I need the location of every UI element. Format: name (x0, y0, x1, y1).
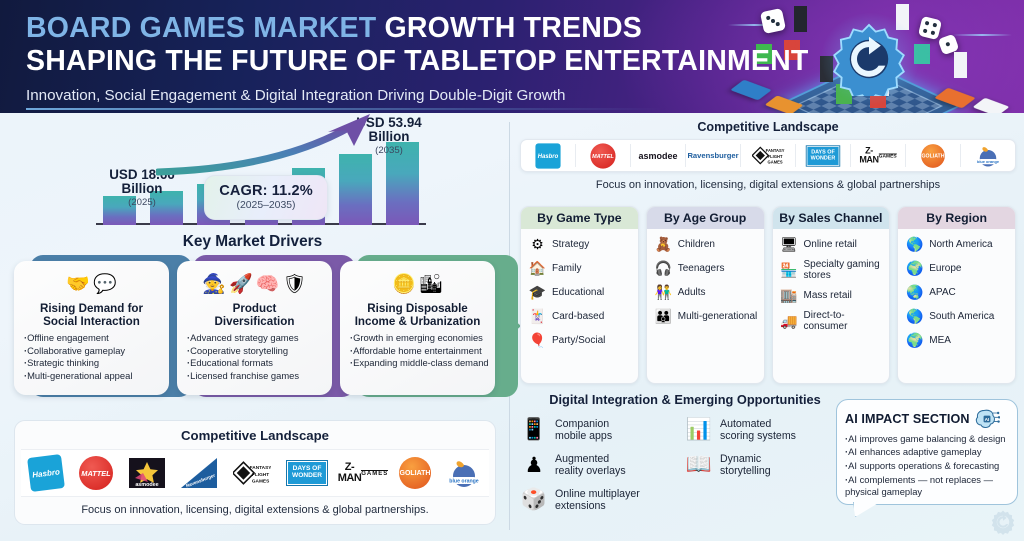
driver-card-bullets: Growth in emerging economiesAffordable h… (345, 332, 490, 370)
map-north-america-icon: 🌎 (905, 235, 924, 254)
brand-logo-goliath: GOLIATH (921, 144, 945, 168)
brand-logo-ravensburger: Ravensburger (181, 458, 217, 488)
driver-card-1: 🤝💬Rising Demand forSocial InteractionOff… (14, 255, 184, 403)
segment-column-3: By Sales Channel🖥Online retail🏪Specialty… (772, 206, 891, 384)
brand-logo-asmodee: asmodee (638, 151, 677, 161)
segment-item-label: Online retail (804, 239, 857, 250)
shield-icon: 🛡 (282, 272, 306, 296)
brand-cell-zman: Z-MANGAMES (851, 144, 906, 167)
digital-item[interactable]: ♟Augmentedreality overlays (520, 451, 685, 479)
svg-text:FANTASY: FANTASY (765, 148, 784, 153)
cl-right-footer: Focus on innovation, licensing, digital … (520, 179, 1016, 191)
segment-item-label: Educational (552, 287, 604, 298)
driver-card-title: Rising Demand forSocial Interaction (19, 302, 164, 328)
brand-logo-asmodee: asmodee (129, 458, 165, 488)
monitor-cart-icon: 🖥 (780, 235, 799, 254)
segment-item-label: Party/Social (552, 335, 605, 346)
brand-cell-blue-orange: blue orange (961, 144, 1015, 167)
brand-logo-days-of-wonder: DAYS OFWONDER (807, 146, 840, 166)
driver-card-3: 🪙🏙Rising DisposableIncome & Urbanization… (340, 255, 510, 403)
segment-item-label: Specialty gaming stores (804, 259, 885, 281)
segment-items: 🧸Children🎧Teenagers👫Adults👪Multi-generat… (647, 229, 764, 335)
ai-impact-bullet: AI complements — not replaces — physical… (845, 474, 1009, 498)
digital-item-label: Companionmobile apps (555, 418, 612, 443)
brand-cell-days-of-wonder: DAYS OFWONDER (796, 144, 851, 167)
segment-item-label: MEA (929, 335, 951, 346)
header-underline (26, 108, 666, 110)
ai-impact-section: AI IMPACT SECTION AI AI improves game ba… (836, 399, 1018, 505)
title-rest: GROWTH TRENDS (384, 12, 642, 44)
brand-logo-mattel: MATTEL (590, 143, 615, 168)
segment-item[interactable]: 🃏Card-based (528, 307, 633, 326)
chess-knight-icon (954, 52, 967, 78)
cl-left-logo-strip: Hasbro MATTEL asmodee Ravensburger FANTA… (21, 449, 489, 497)
brand-logo-blue-orange-games: blue orange (447, 457, 481, 489)
cl-right-logo-strip: Hasbro MATTEL asmodee Ravensburger FANTA… (520, 139, 1016, 172)
ai-impact-title: AI IMPACT SECTION (845, 412, 970, 426)
svg-text:FLIGHT: FLIGHT (767, 154, 782, 159)
driver-bullet: Affordable home entertainment (350, 345, 490, 358)
map-south-america-icon: 🌎 (905, 307, 924, 326)
cl-left-footer: Focus on innovation, licensing, digital … (15, 497, 495, 516)
graduation-book-icon: 🎓 (528, 283, 547, 302)
segment-column-4: By Region🌎North America🌍Europe🌏APAC🌎Sout… (897, 206, 1016, 384)
brand-logo-zman-games: Z-MANGAMES (862, 145, 895, 166)
driver-card-body: 🧙🚀🧠🛡ProductDiversificationAdvanced strat… (177, 261, 332, 395)
cl-left-title: Competitive Landscape (15, 421, 495, 443)
title-highlight: BOARD GAMES MARKET (26, 12, 376, 44)
gear-logo-icon (832, 22, 906, 96)
segment-column-1: By Game Type⚙Strategy🏠Family🎓Educational… (520, 206, 639, 384)
segment-header: By Age Group (647, 207, 764, 229)
svg-text:GAMES: GAMES (252, 479, 269, 485)
house-icon: 🏠 (528, 259, 547, 278)
segment-header: By Region (898, 207, 1015, 229)
driver-bullet: Educational formats (187, 357, 327, 370)
smartphone-game-icon: 📱 (520, 416, 548, 444)
segment-item[interactable]: 🏪Specialty gaming stores (780, 259, 885, 281)
balloons-icon: 🎈 (528, 331, 547, 350)
ai-brain-chip-icon: AI (974, 407, 1000, 431)
brand-logo-fantasy-flight-games: FANTASY FLIGHT GAMES (752, 144, 785, 167)
segment-item[interactable]: 🌍MEA (905, 331, 1010, 350)
segment-item[interactable]: 🎈Party/Social (528, 331, 633, 350)
ai-impact-bullets: AI improves game balancing & designAI en… (845, 433, 1009, 499)
gears-icon: ⚙ (528, 235, 547, 254)
digital-item-label: Augmentedreality overlays (555, 453, 626, 478)
svg-text:blue orange: blue orange (977, 159, 1000, 164)
digital-item[interactable]: 📖Dynamicstorytelling (685, 451, 850, 479)
segment-items: 🌎North America🌍Europe🌏APAC🌎South America… (898, 229, 1015, 359)
ai-impact-bullet: AI supports operations & forecasting (845, 460, 1009, 472)
driver-bullet: Growth in emerging economies (350, 332, 490, 345)
svg-text:GAMES: GAMES (767, 160, 782, 165)
segment-column-2: By Age Group🧸Children🎧Teenagers👫Adults👪M… (646, 206, 765, 384)
segment-item[interactable]: 🌍Europe (905, 259, 1010, 278)
competitive-landscape-right: Competitive Landscape Hasbro MATTEL asmo… (520, 120, 1016, 198)
svg-text:AI: AI (984, 417, 989, 423)
robot-hand-book-icon: 📖 (685, 451, 713, 479)
driver-card-2: 🧙🚀🧠🛡ProductDiversificationAdvanced strat… (177, 255, 347, 403)
key-market-drivers-title: Key Market Drivers (0, 233, 505, 251)
cagr-period: (2025–2035) (209, 200, 323, 211)
digital-item-label: Automatedscoring systems (720, 418, 796, 443)
segment-item-label: Strategy (552, 239, 589, 250)
map-europe-icon: 🌍 (905, 259, 924, 278)
department-store-icon: 🏬 (780, 286, 799, 305)
driver-bullet: Offline engagement (24, 332, 164, 345)
driver-card-icons: 🪙🏙 (345, 267, 490, 301)
brain-icon: 🧠 (256, 272, 280, 296)
segment-item-label: Adults (678, 287, 706, 298)
segment-item-label: Teenagers (678, 263, 725, 274)
brand-logo-goliath: GOLIATH (399, 457, 431, 489)
segment-item[interactable]: 🏬Mass retail (780, 286, 885, 305)
page-header: BOARD GAMES MARKET GROWTH TRENDS SHAPING… (0, 0, 1024, 113)
chat-bubbles-icon: 💬 (93, 272, 117, 296)
segment-item[interactable]: 🌎North America (905, 235, 1010, 254)
brand-logo-fantasy-flight-games: FANTASY FLIGHT GAMES (233, 459, 271, 487)
segment-item-label: Mass retail (804, 290, 852, 301)
brand-logo-hasbro: Hasbro (27, 454, 65, 492)
brand-logo-mattel: MATTEL (79, 456, 113, 490)
coins-icon: 🪙 (392, 272, 416, 296)
segment-item[interactable]: 🎧Teenagers (654, 259, 759, 278)
segmentation-columns: By Game Type⚙Strategy🏠Family🎓Educational… (520, 206, 1016, 384)
brand-cell-asmodee: asmodee (631, 144, 686, 167)
segment-item-label: Europe (929, 263, 961, 274)
brand-cell-ravensburger: Ravensburger (686, 144, 741, 167)
brand-cell-mattel: MATTEL (576, 144, 631, 167)
segment-item-label: Children (678, 239, 715, 250)
storefront-icon: 🏪 (780, 261, 799, 280)
digital-item[interactable]: 📱Companionmobile apps (520, 416, 685, 444)
driver-bullet: Advanced strategy games (187, 332, 327, 345)
driver-bullet: Licensed franchise games (187, 370, 327, 383)
driver-card-title: Rising DisposableIncome & Urbanization (345, 302, 490, 328)
brand-logo-blue-orange-games: blue orange (975, 144, 1001, 168)
light-streak (952, 34, 1012, 36)
segment-item[interactable]: 🏠Family (528, 259, 633, 278)
digital-item[interactable]: 🎲Online multiplayerextensions (520, 486, 685, 514)
svg-text:asmodee: asmodee (135, 482, 158, 488)
brand-cell-hasbro: Hasbro (521, 144, 576, 167)
driver-bullet: Multi-generational appeal (24, 370, 164, 383)
brand-logo-zman-games: Z-MAN GAMES (343, 460, 383, 486)
driver-card-icons: 🧙🚀🧠🛡 (182, 267, 327, 301)
city-icon: 🏙 (419, 272, 443, 296)
segment-items: 🖥Online retail🏪Specialty gaming stores🏬M… (773, 229, 890, 341)
digital-title: Digital Integration & Emerging Opportuni… (520, 392, 850, 407)
segment-item-label: APAC (929, 287, 956, 298)
segment-item-label: South America (929, 311, 994, 322)
page-title-line-2: SHAPING THE FUTURE OF TABLETOP ENTERTAIN… (26, 46, 809, 78)
segment-header: By Game Type (521, 207, 638, 229)
board-pawn-icon: 🎲 (520, 486, 548, 514)
segment-items: ⚙Strategy🏠Family🎓Educational🃏Card-based🎈… (521, 229, 638, 359)
tablet-magnifier-icon: 📊 (685, 416, 713, 444)
svg-text:FLIGHT: FLIGHT (252, 472, 269, 478)
digital-right-column: 📊Automatedscoring systems📖Dynamicstoryte… (685, 416, 850, 521)
ai-impact-header: AI IMPACT SECTION AI (845, 407, 1009, 431)
driver-card-bullets: Advanced strategy gamesCooperative story… (182, 332, 327, 382)
brand-logo-hasbro: Hasbro (535, 143, 560, 168)
segment-item-label: Multi-generational (678, 311, 758, 322)
ai-impact-bullet: AI improves game balancing & design (845, 433, 1009, 445)
page-title-line-1: BOARD GAMES MARKET GROWTH TRENDS (26, 13, 809, 45)
segment-header: By Sales Channel (773, 207, 890, 229)
brand-cell-goliath: GOLIATH (906, 144, 961, 167)
driver-card-body: 🪙🏙Rising DisposableIncome & Urbanization… (340, 261, 495, 395)
brand-logo-days-of-wonder: DAYS OFWONDER (287, 461, 327, 485)
teddy-bear-icon: 🧸 (654, 235, 673, 254)
competitive-landscape-left: Competitive Landscape Hasbro MATTEL asmo… (14, 420, 496, 525)
driver-card-bullets: Offline engagementCollaborative gameplay… (19, 332, 164, 382)
segment-item-label: North America (929, 239, 992, 250)
svg-text:FANTASY: FANTASY (250, 465, 271, 471)
adults-icon: 👫 (654, 283, 673, 302)
map-africa-icon: 🌍 (905, 331, 924, 350)
family-icon: 👪 (654, 307, 673, 326)
segment-item[interactable]: 🖥Online retail (780, 235, 885, 254)
segment-item[interactable]: 👫Adults (654, 283, 759, 302)
ai-impact-bullet: AI enhances adaptive gameplay (845, 446, 1009, 458)
cagr-value: CAGR: 11.2% (209, 183, 323, 199)
driver-bullet: Cooperative storytelling (187, 345, 327, 358)
segment-item[interactable]: 🌎South America (905, 307, 1010, 326)
segment-item[interactable]: 🧸Children (654, 235, 759, 254)
page-subtitle: Innovation, Social Engagement & Digital … (26, 87, 809, 104)
segment-item-label: Direct-to-consumer (804, 310, 885, 332)
digital-item[interactable]: 📊Automatedscoring systems (685, 416, 850, 444)
segment-item[interactable]: 🎓Educational (528, 283, 633, 302)
segment-item[interactable]: 🌏APAC (905, 283, 1010, 302)
driver-card-body: 🤝💬Rising Demand forSocial InteractionOff… (14, 261, 169, 395)
header-text-block: BOARD GAMES MARKET GROWTH TRENDS SHAPING… (26, 13, 809, 104)
digital-item-label: Dynamicstorytelling (720, 453, 771, 478)
playing-cards-icon: 🃏 (528, 307, 547, 326)
digital-left-column: 📱Companionmobile apps♟Augmentedreality o… (520, 416, 685, 521)
phone-headphones-icon: 🎧 (654, 259, 673, 278)
driver-card-icons: 🤝💬 (19, 267, 164, 301)
brand-logo-ravensburger: Ravensburger (687, 151, 738, 160)
cagr-callout: CAGR: 11.2% (2025–2035) (204, 175, 328, 220)
brand-cell-fantasy-flight: FANTASY FLIGHT GAMES (741, 144, 796, 167)
market-growth-chart: USD 18.66 Billion (2025) USD 53.94 Billi… (96, 126, 426, 226)
segment-item[interactable]: ⚙Strategy (528, 235, 633, 254)
key-market-drivers-group: 🤝💬Rising Demand forSocial InteractionOff… (14, 255, 496, 405)
driver-bullet: Expanding middle-class demand (350, 357, 490, 370)
handshake-icon: 🤝 (66, 272, 90, 296)
digital-item-label: Online multiplayerextensions (555, 488, 640, 513)
ar-board-icon: ♟ (520, 451, 548, 479)
svg-text:blue orange: blue orange (449, 479, 479, 485)
driver-card-title: ProductDiversification (182, 302, 327, 328)
segment-item-label: Card-based (552, 311, 604, 322)
driver-bullet: Strategic thinking (24, 357, 164, 370)
cl-right-title: Competitive Landscape (520, 120, 1016, 134)
segment-item-label: Family (552, 263, 581, 274)
driver-bullet: Collaborative gameplay (24, 345, 164, 358)
delivery-truck-icon: 🚚 (780, 312, 799, 331)
map-apac-icon: 🌏 (905, 283, 924, 302)
game-card-icon (972, 98, 1009, 113)
wizard-hat-icon: 🧙 (202, 272, 226, 296)
segment-item[interactable]: 👪Multi-generational (654, 307, 759, 326)
segment-item[interactable]: 🚚Direct-to-consumer (780, 310, 885, 332)
watermark-gear-icon (990, 509, 1016, 535)
rocket-icon: 🚀 (229, 272, 253, 296)
digital-integration-section: Digital Integration & Emerging Opportuni… (520, 392, 850, 521)
